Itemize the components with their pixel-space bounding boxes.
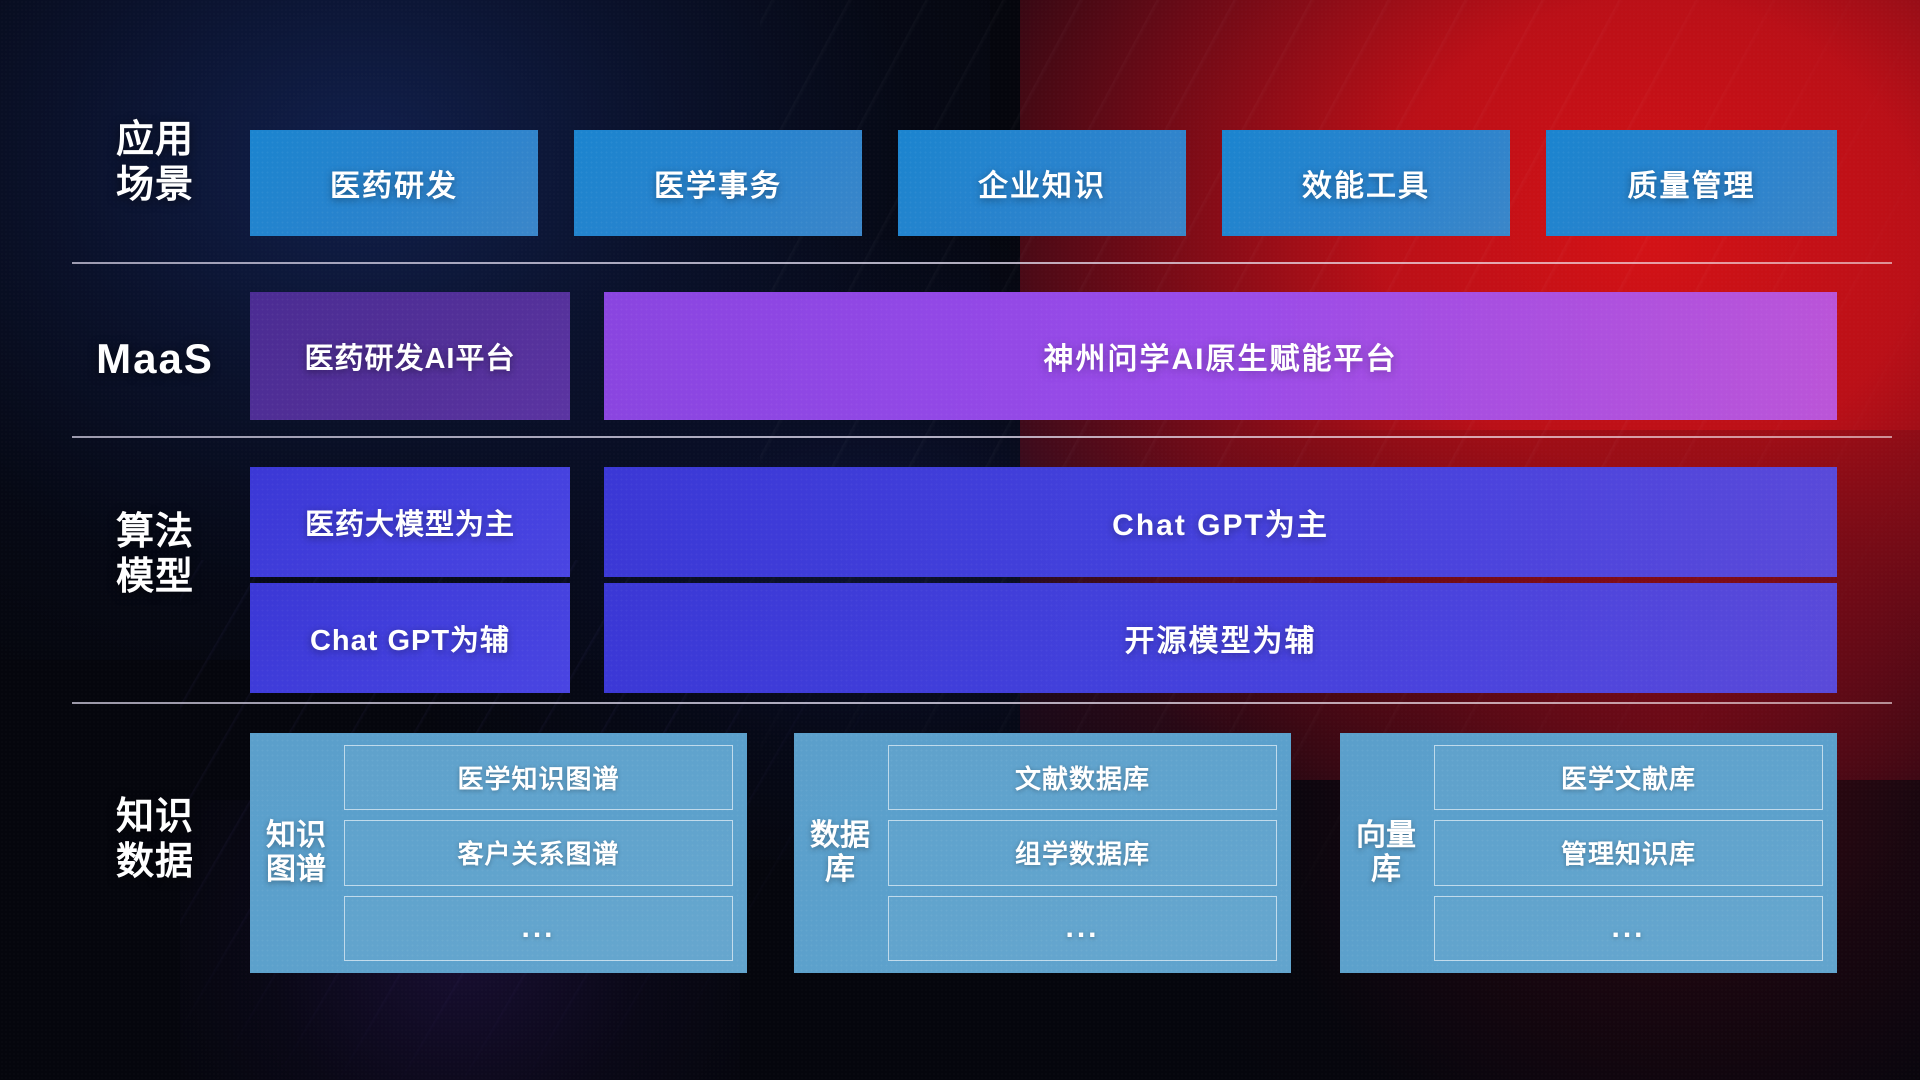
knowledge-group-vector-store: 向​量​库 医学文献库 管理知识库 ... (1340, 733, 1837, 973)
architecture-diagram: 应用 场景 医药研发 医学事务 企业知识 效能工具 质量管理 MaaS 医药研发… (0, 0, 1920, 1080)
maas-box-label: 医药研发AI平台 (304, 335, 515, 377)
knowledge-item-more[interactable]: ... (1434, 896, 1823, 961)
algo-box-label: 医药大模型为主 (305, 501, 515, 543)
diagram-content: 应用 场景 医药研发 医学事务 企业知识 效能工具 质量管理 MaaS 医药研发… (0, 0, 1920, 1080)
row-label-line-2: 场景 (70, 163, 240, 208)
row-label-algorithm-model: 算法 模型 (70, 510, 240, 600)
app-box-efficiency-tools[interactable]: 效能工具 (1222, 130, 1510, 236)
knowledge-group-items: 医学文献库 管理知识库 ... (1422, 745, 1823, 961)
maas-box-pharma-ai-platform[interactable]: 医药研发AI平台 (250, 292, 570, 420)
knowledge-item-omics-database[interactable]: 组学数据库 (888, 820, 1277, 885)
knowledge-group-items: 医学知识图谱 客户关系图谱 ... (332, 745, 733, 961)
algo-box-label: Chat GPT为主 (1112, 500, 1329, 544)
row-label-line-1: 算法 (70, 510, 240, 555)
maas-box-label: 神州问学AI原生赋能平台 (1044, 334, 1398, 378)
row-label-line-1: 应用 (70, 118, 240, 163)
app-box-label: 医药研发 (330, 161, 458, 205)
knowledge-item-management-knowledge-store[interactable]: 管理知识库 (1434, 820, 1823, 885)
app-box-label: 医学事务 (654, 161, 782, 205)
app-box-medical-affairs[interactable]: 医学事务 (574, 130, 862, 236)
knowledge-group-title: 知​识​图​谱 (260, 745, 332, 961)
app-box-medicine-rnd[interactable]: 医药研发 (250, 130, 538, 236)
row-label-line-1: 知识 (70, 795, 240, 840)
app-box-quality-management[interactable]: 质量管理 (1546, 130, 1837, 236)
knowledge-item-more[interactable]: ... (344, 896, 733, 961)
algo-box-pharma-llm-primary[interactable]: 医药大模型为主 (250, 467, 570, 577)
knowledge-item-medical-literature-store[interactable]: 医学文献库 (1434, 745, 1823, 810)
knowledge-item-customer-relation-graph[interactable]: 客户关系图谱 (344, 820, 733, 885)
knowledge-group-title: 数​据​库 (804, 745, 876, 961)
knowledge-group-knowledge-graph: 知​识​图​谱 医学知识图谱 客户关系图谱 ... (250, 733, 747, 973)
app-box-label: 质量管理 (1628, 161, 1756, 205)
knowledge-item-more[interactable]: ... (888, 896, 1277, 961)
algo-box-label: 开源模型为辅 (1125, 616, 1317, 660)
knowledge-group-items: 文献数据库 组学数据库 ... (876, 745, 1277, 961)
algo-box-chatgpt-secondary[interactable]: Chat GPT为辅 (250, 583, 570, 693)
row-label-application-scenarios: 应用 场景 (70, 118, 240, 208)
knowledge-item-literature-database[interactable]: 文献数据库 (888, 745, 1277, 810)
row-label-knowledge-data: 知识 数据 (70, 795, 240, 885)
divider-after-maas (72, 436, 1892, 438)
app-box-label: 企业知识 (978, 161, 1106, 205)
algo-box-label: Chat GPT为辅 (310, 617, 510, 659)
knowledge-group-database: 数​据​库 文献数据库 组学数据库 ... (794, 733, 1291, 973)
knowledge-group-title: 向​量​库 (1350, 745, 1422, 961)
algo-box-chatgpt-primary[interactable]: Chat GPT为主 (604, 467, 1837, 577)
app-box-label: 效能工具 (1302, 161, 1430, 205)
divider-after-application-scenarios (72, 262, 1892, 264)
maas-box-shenzhou-wenxue-platform[interactable]: 神州问学AI原生赋能平台 (604, 292, 1837, 420)
row-label-maas: MaaS (70, 334, 240, 384)
app-box-enterprise-knowledge[interactable]: 企业知识 (898, 130, 1186, 236)
row-label-line-2: 数据 (70, 840, 240, 885)
row-label-line-2: 模型 (70, 555, 240, 600)
knowledge-item-medical-knowledge-graph[interactable]: 医学知识图谱 (344, 745, 733, 810)
algo-box-opensource-secondary[interactable]: 开源模型为辅 (604, 583, 1837, 693)
divider-after-algorithm-model (72, 702, 1892, 704)
